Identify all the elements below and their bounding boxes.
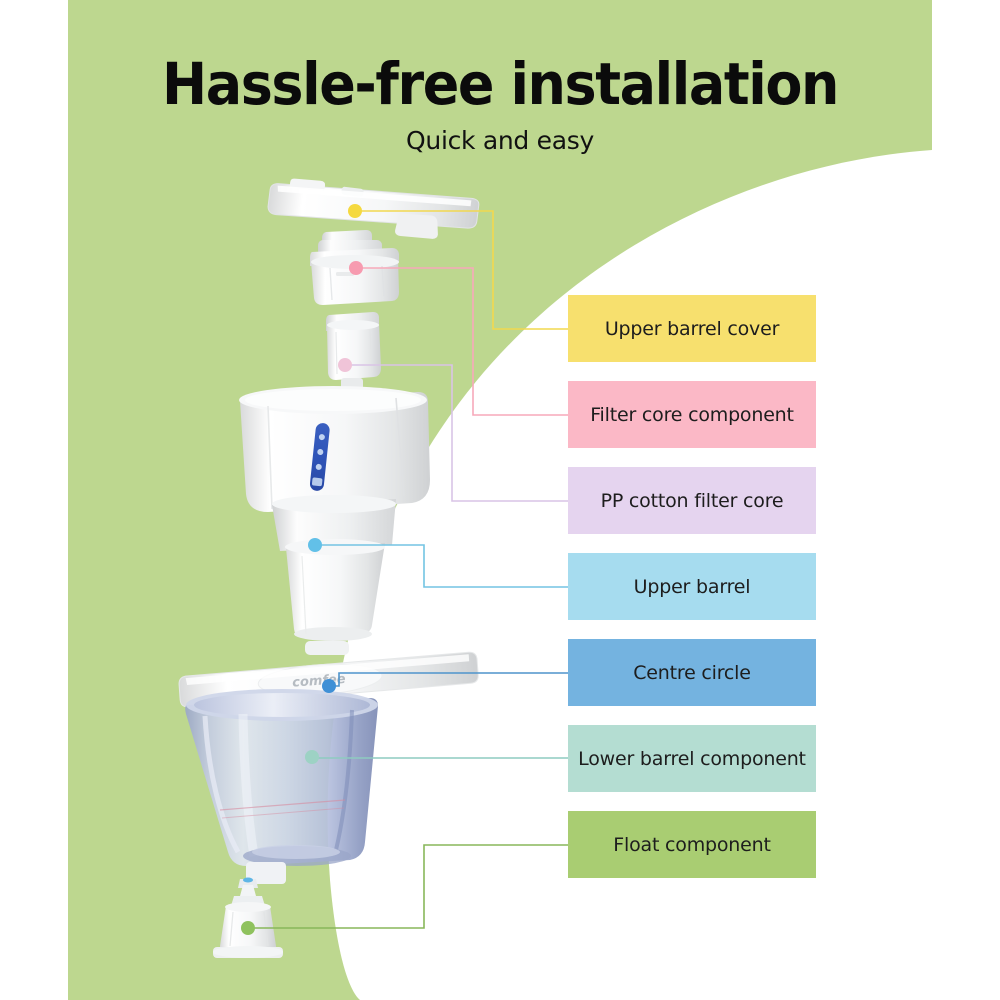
connector-line-lower-barrel-component <box>312 757 568 758</box>
connector-line-filter-core-component <box>356 268 568 415</box>
infographic-canvas: Hassle-free installation Quick and easy <box>0 0 1000 1000</box>
callout-connectors <box>0 0 1000 1000</box>
connector-dot-upper-barrel <box>308 538 322 552</box>
callout-label-upper-barrel-cover[interactable]: Upper barrel cover <box>568 295 816 362</box>
callout-label-centre-circle[interactable]: Centre circle <box>568 639 816 706</box>
connector-dot-float-component <box>241 921 255 935</box>
callout-label-filter-core-component[interactable]: Filter core component <box>568 381 816 448</box>
connector-line-upper-barrel-cover <box>355 211 568 329</box>
connector-line-pp-cotton-filter-core <box>345 365 568 501</box>
callout-label-upper-barrel[interactable]: Upper barrel <box>568 553 816 620</box>
connector-line-centre-circle <box>329 673 568 686</box>
connector-line-upper-barrel <box>315 545 568 587</box>
connector-dot-pp-cotton-filter-core <box>338 358 352 372</box>
callout-label-pp-cotton-filter-core[interactable]: PP cotton filter core <box>568 467 816 534</box>
connector-dot-centre-circle <box>322 679 336 693</box>
connector-line-float-component <box>248 845 568 928</box>
callout-label-float-component[interactable]: Float component <box>568 811 816 878</box>
connector-dot-filter-core-component <box>349 261 363 275</box>
connector-dot-upper-barrel-cover <box>348 204 362 218</box>
connector-dot-lower-barrel-component <box>305 750 319 764</box>
callout-label-lower-barrel-component[interactable]: Lower barrel component <box>568 725 816 792</box>
